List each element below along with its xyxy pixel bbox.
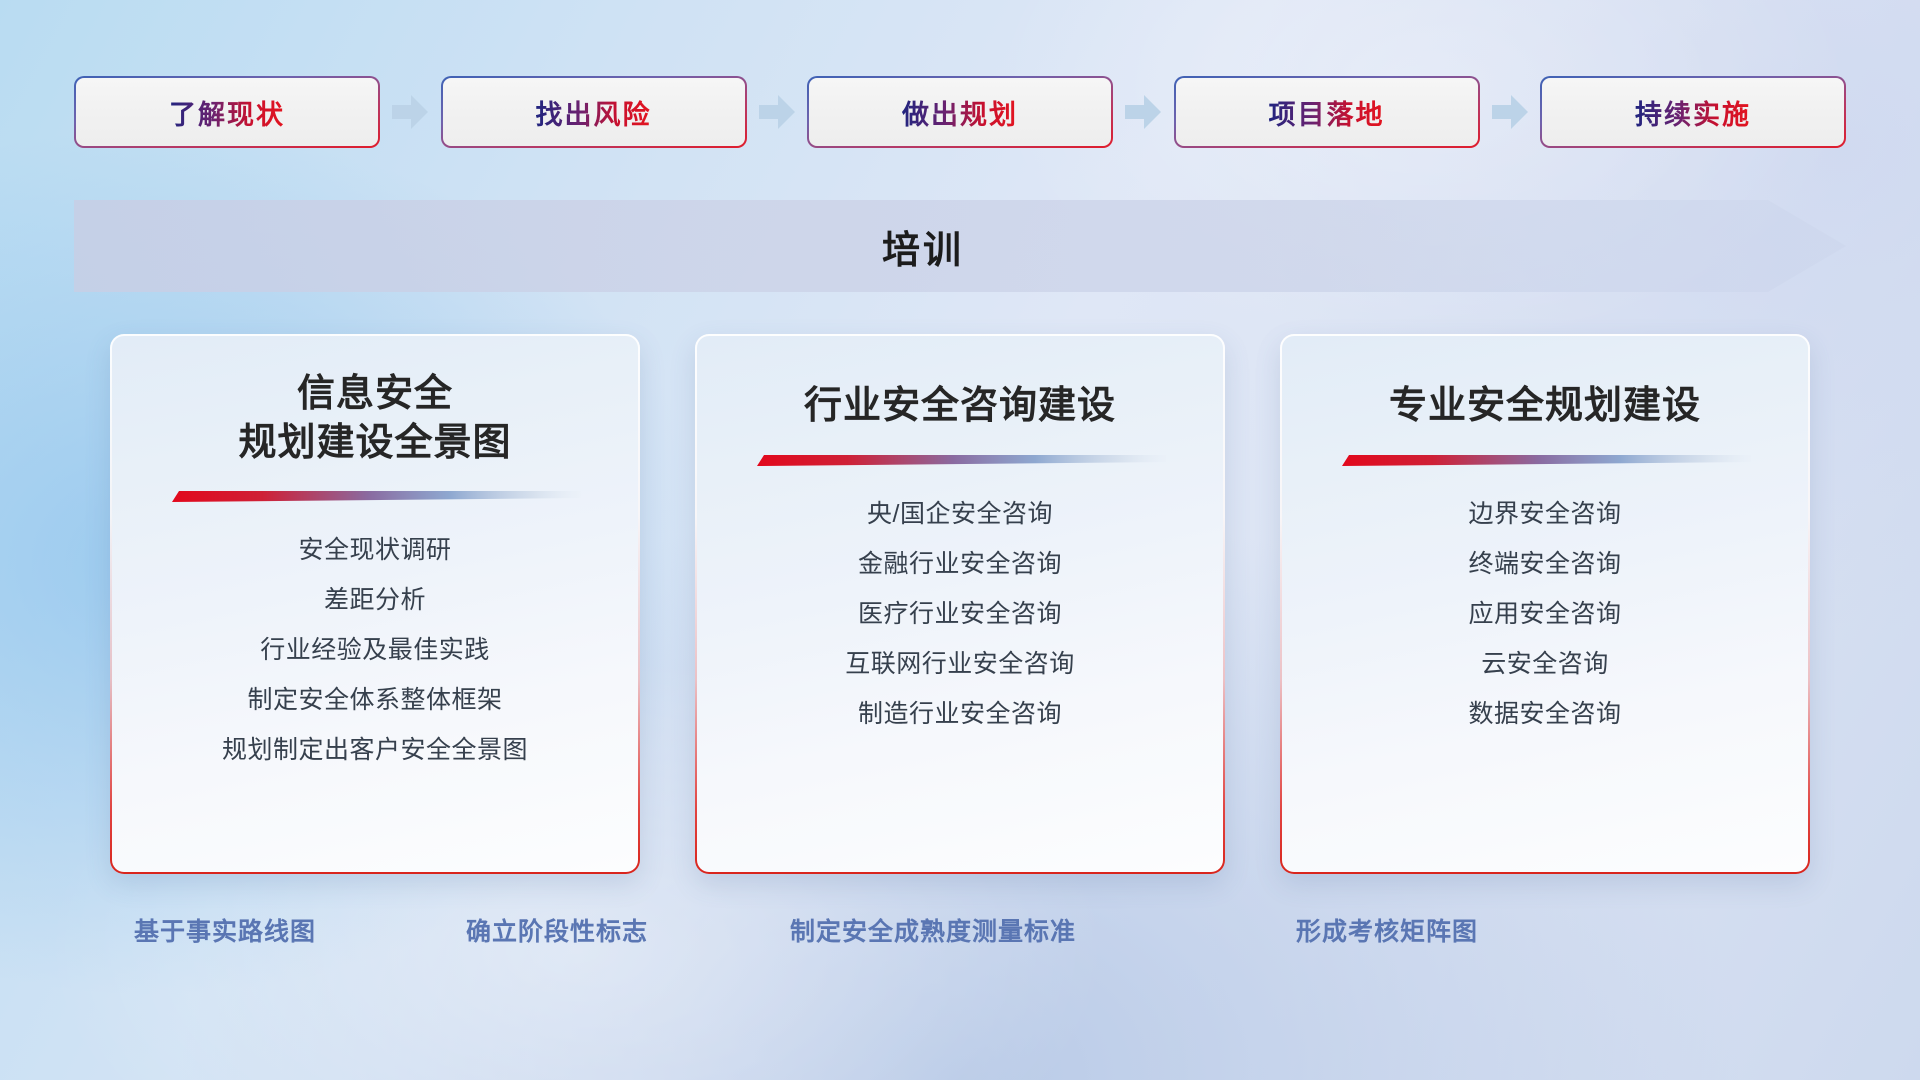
- caption-0: 基于事实路线图: [134, 912, 316, 948]
- caption-1: 确立阶段性标志: [466, 912, 648, 948]
- step-pill-inner: 找出风险: [443, 78, 745, 146]
- step-pill-inner: 项目落地: [1176, 78, 1478, 146]
- card-list-item: 差距分析: [324, 579, 426, 622]
- caption-3: 形成考核矩阵图: [1296, 912, 1478, 948]
- step-pill-0[interactable]: 了解现状: [74, 76, 380, 148]
- step-pill-label: 找出风险: [536, 93, 652, 132]
- chevron-right-arrow-icon: [1125, 95, 1161, 129]
- chevron-right-arrow-icon: [1492, 95, 1528, 129]
- card-divider-wrap: [112, 489, 638, 503]
- card-inner: 行业安全咨询建设: [697, 336, 1223, 872]
- card-title-line: 规划建设全景图: [238, 419, 511, 468]
- card-inner: 信息安全 规划建设全景图: [112, 336, 638, 872]
- banner-title: 培训: [74, 200, 1772, 292]
- chevron-right-arrow-icon: [392, 95, 428, 129]
- card-row: 信息安全 规划建设全景图: [110, 334, 1810, 874]
- step-pill-3[interactable]: 项目落地: [1174, 76, 1480, 148]
- step-pill-inner: 做出规划: [809, 78, 1111, 146]
- card-list-item: 制造行业安全咨询: [858, 693, 1062, 736]
- card-item-list: 安全现状调研 差距分析 行业经验及最佳实践 制定安全体系整体框架 规划制定出客户…: [112, 529, 638, 772]
- card-title-line: 信息安全: [238, 370, 511, 419]
- chevron-right-arrow-icon: [759, 95, 795, 129]
- card-1[interactable]: 行业安全咨询建设: [695, 334, 1225, 874]
- card-divider-wrap: [1282, 453, 1808, 467]
- card-list-item: 医疗行业安全咨询: [858, 593, 1062, 636]
- card-divider-wrap: [697, 453, 1223, 467]
- card-list-item: 互联网行业安全咨询: [845, 643, 1075, 686]
- card-item-list: 边界安全咨询 终端安全咨询 应用安全咨询 云安全咨询 数据安全咨询: [1282, 493, 1808, 736]
- card-title: 专业安全规划建设: [1365, 382, 1725, 431]
- card-list-item: 制定安全体系整体框架: [247, 679, 502, 722]
- caption-2: 制定安全成熟度测量标准: [790, 912, 1076, 948]
- card-list-item: 央/国企安全咨询: [867, 493, 1053, 536]
- step-pill-label: 了解现状: [169, 93, 285, 132]
- card-2[interactable]: 专业安全规划建设: [1280, 334, 1810, 874]
- card-divider: [754, 453, 1166, 467]
- step-pill-label: 做出规划: [902, 93, 1018, 132]
- card-list-item: 云安全咨询: [1481, 643, 1609, 686]
- card-title: 信息安全 规划建设全景图: [214, 370, 535, 467]
- card-list-item: 终端安全咨询: [1468, 543, 1621, 586]
- card-list-item: 安全现状调研: [298, 529, 451, 572]
- step-pill-label: 持续实施: [1635, 93, 1751, 132]
- card-list-item: 数据安全咨询: [1468, 693, 1621, 736]
- card-divider: [1339, 453, 1751, 467]
- card-list-item: 规划制定出客户安全全景图: [222, 729, 528, 772]
- card-list-item: 金融行业安全咨询: [858, 543, 1062, 586]
- card-item-list: 央/国企安全咨询 金融行业安全咨询 医疗行业安全咨询 互联网行业安全咨询 制造行…: [697, 493, 1223, 736]
- step-pill-1[interactable]: 找出风险: [441, 76, 747, 148]
- card-title: 行业安全咨询建设: [780, 382, 1140, 431]
- card-list-item: 应用安全咨询: [1468, 593, 1621, 636]
- step-pill-inner: 持续实施: [1542, 78, 1844, 146]
- step-pill-label: 项目落地: [1269, 93, 1385, 132]
- training-banner: 培训: [74, 200, 1846, 292]
- step-pill-4[interactable]: 持续实施: [1540, 76, 1846, 148]
- process-step-bar: 了解现状 找出风险 做出规划 项目落地: [74, 76, 1846, 148]
- card-title-line: 专业安全规划建设: [1389, 382, 1701, 431]
- card-0[interactable]: 信息安全 规划建设全景图: [110, 334, 640, 874]
- card-inner: 专业安全规划建设: [1282, 336, 1808, 872]
- card-list-item: 边界安全咨询: [1468, 493, 1621, 536]
- caption-row: 基于事实路线图 确立阶段性标志 制定安全成熟度测量标准 形成考核矩阵图: [0, 912, 1920, 960]
- step-pill-inner: 了解现状: [76, 78, 378, 146]
- step-pill-2[interactable]: 做出规划: [807, 76, 1113, 148]
- card-divider: [169, 489, 581, 503]
- card-title-line: 行业安全咨询建设: [804, 382, 1116, 431]
- card-list-item: 行业经验及最佳实践: [260, 629, 490, 672]
